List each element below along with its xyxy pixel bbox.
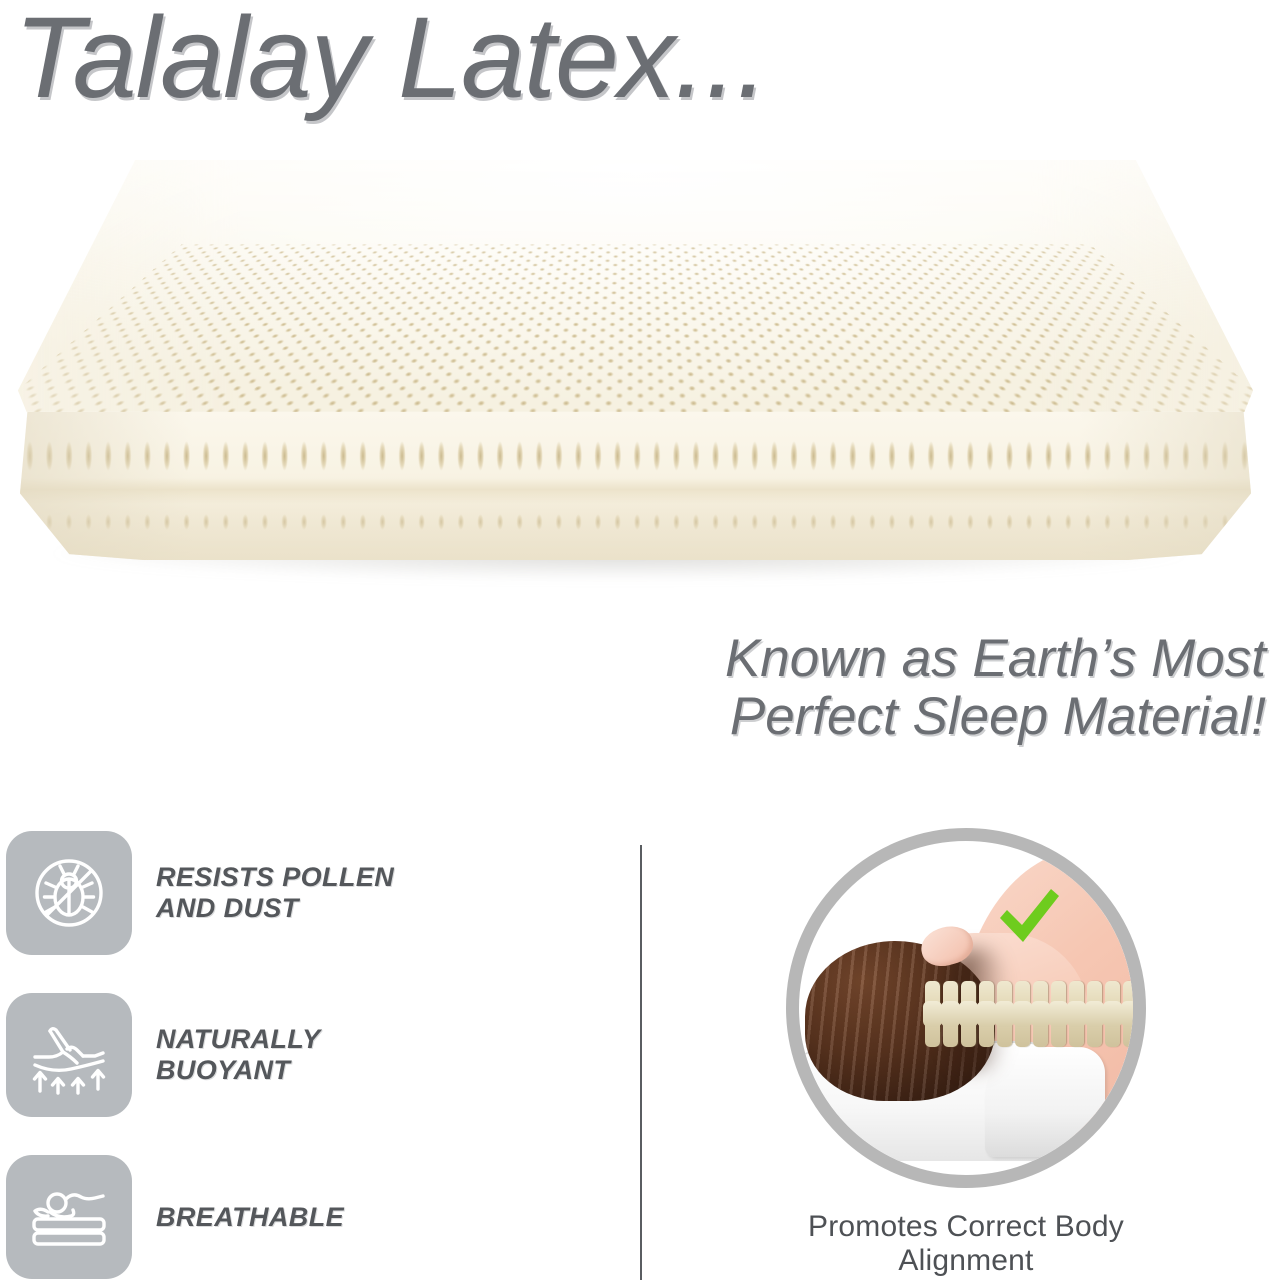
- page-title: Talalay Latex...: [14, 0, 767, 121]
- pillow-top-sheen: [18, 160, 1253, 428]
- feature-label-line-2: BUOYANT: [156, 1055, 321, 1086]
- column-divider: [640, 845, 642, 1280]
- feature-label-line-2: AND DUST: [156, 893, 394, 924]
- headline: Known as Earth’s Most Perfect Sleep Mate…: [606, 630, 1266, 746]
- hand-press-arrows-icon: [23, 1009, 115, 1101]
- feature-icon-badge: [6, 1155, 132, 1279]
- no-dust-mite-icon: [23, 847, 115, 939]
- feature-label: NATURALLY BUOYANT: [156, 1024, 321, 1086]
- feature-label-line-1: NATURALLY: [156, 1024, 321, 1055]
- pillow-front-shading: [20, 412, 1251, 560]
- feature-icon-badge: [6, 831, 132, 955]
- product-image: [0, 160, 1280, 600]
- feature-icon-badge: [6, 993, 132, 1117]
- pillow-top-face: [18, 160, 1253, 428]
- alignment-circle-frame: [786, 828, 1146, 1188]
- headline-line-2: Perfect Sleep Material!: [606, 688, 1266, 746]
- headline-line-1: Known as Earth’s Most: [725, 629, 1266, 688]
- alignment-caption: Promotes Correct Body Alignment: [756, 1210, 1176, 1278]
- pillow-front-face: [20, 412, 1251, 560]
- illustrated-pillow-support: [985, 1047, 1105, 1157]
- feature-label-line-1: RESISTS POLLEN: [156, 862, 394, 893]
- feature-naturally-buoyant: NATURALLY BUOYANT: [6, 990, 626, 1120]
- spine-vertebrae: [925, 981, 1133, 1055]
- latex-pillow: [18, 160, 1253, 560]
- feature-breathable: BREATHABLE: [6, 1152, 626, 1282]
- feature-label: RESISTS POLLEN AND DUST: [156, 862, 394, 924]
- green-check-icon: [995, 885, 1063, 951]
- person-on-mattress-icon: [23, 1171, 115, 1263]
- feature-label: BREATHABLE: [156, 1202, 344, 1233]
- feature-list: RESISTS POLLEN AND DUST: [6, 828, 626, 1282]
- body-alignment-illustration: Promotes Correct Body Alignment: [756, 828, 1176, 1278]
- feature-resists-pollen-and-dust: RESISTS POLLEN AND DUST: [6, 828, 626, 958]
- feature-label-line-1: BREATHABLE: [156, 1202, 344, 1233]
- alignment-circle-inner: [799, 841, 1133, 1175]
